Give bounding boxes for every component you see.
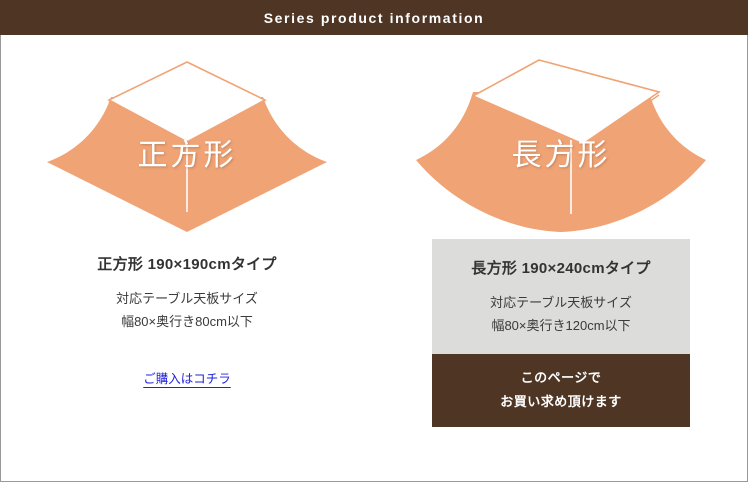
kotatsu-rectangle-icon [411, 52, 711, 237]
header-bar: Series product information [0, 0, 748, 35]
page-title: Series product information [264, 10, 485, 26]
purchase-link-square[interactable]: ご購入はコチラ [143, 372, 231, 386]
product-title-square: 正方形 190×190cmタイプ [58, 253, 316, 274]
product-card-rectangle: 長方形 長方形 190×240cmタイプ 対応テーブル天板サイズ 幅80×奥行き… [374, 35, 748, 482]
product-spec-line-1-square: 対応テーブル天板サイズ [58, 288, 316, 311]
purchase-link-wrap-square: ご購入はコチラ [58, 368, 316, 388]
kotatsu-rectangle-illustration: 長方形 [411, 52, 711, 237]
product-spec-line-2-square: 幅80×奥行き80cm以下 [58, 311, 316, 334]
kotatsu-square-icon [37, 52, 337, 237]
current-page-note: このページで お買い求め頂けます [432, 354, 690, 427]
kotatsu-square-illustration: 正方形 [37, 52, 337, 237]
product-spec-line-2-rectangle: 幅80×奥行き120cm以下 [432, 315, 690, 338]
product-columns: 正方形 正方形 190×190cmタイプ 対応テーブル天板サイズ 幅80×奥行き… [0, 35, 748, 482]
product-info-square: 正方形 190×190cmタイプ 対応テーブル天板サイズ 幅80×奥行き80cm… [58, 239, 316, 346]
product-title-rectangle: 長方形 190×240cmタイプ [432, 257, 690, 278]
product-information-panel: Series product information 正方形 [0, 0, 748, 482]
product-info-rectangle: 長方形 190×240cmタイプ 対応テーブル天板サイズ 幅80×奥行き120c… [432, 239, 690, 354]
product-spec-line-1-rectangle: 対応テーブル天板サイズ [432, 292, 690, 315]
product-card-square: 正方形 正方形 190×190cmタイプ 対応テーブル天板サイズ 幅80×奥行き… [0, 35, 374, 482]
note-line-1: このページで [432, 366, 690, 390]
note-line-2: お買い求め頂けます [432, 390, 690, 414]
